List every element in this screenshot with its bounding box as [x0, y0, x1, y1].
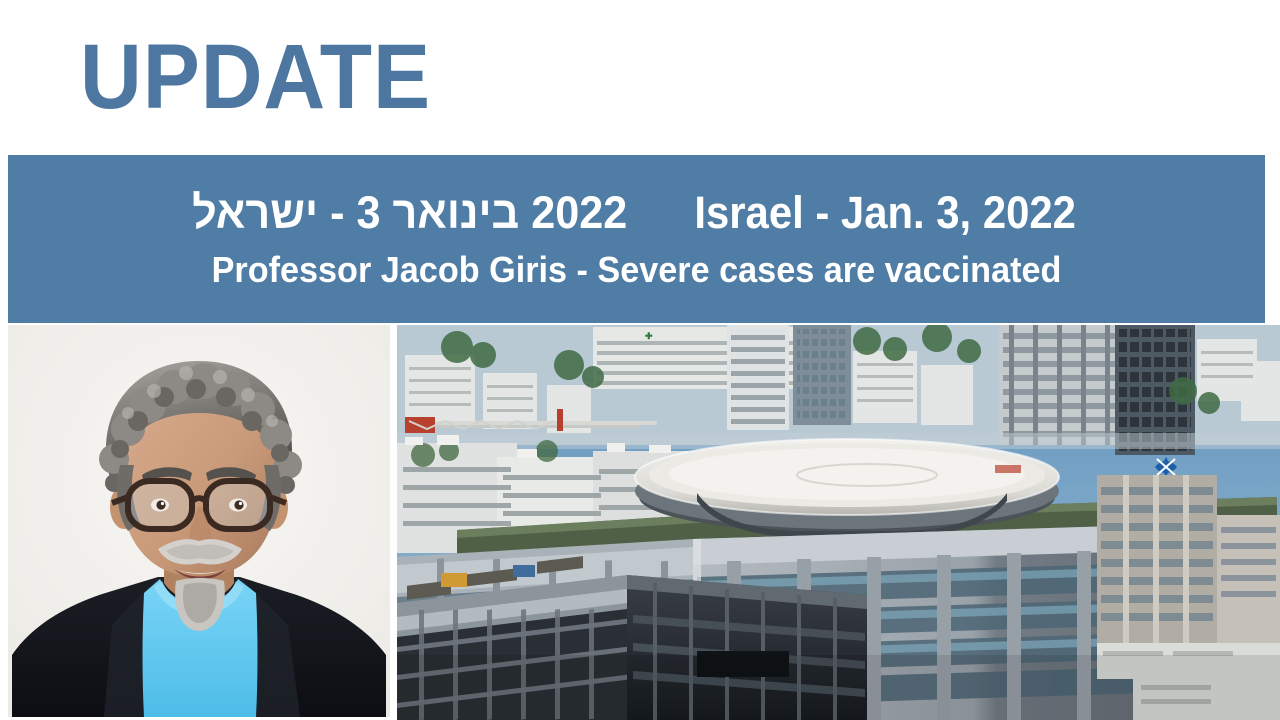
portrait-illustration: [8, 325, 390, 717]
banner-subtitle: Professor Jacob Giris - Severe cases are…: [60, 247, 1212, 293]
page-title: UPDATE: [80, 26, 431, 128]
banner-english-title: Israel - Jan. 3, 2022: [694, 185, 1076, 241]
cityscape-photo: Aerial view of Tel Aviv Sourasky (Ichilo…: [397, 325, 1280, 720]
svg-text:✚: ✚: [645, 331, 653, 341]
banner-hebrew-title: לארשי - 3 ראוניב 2022: [192, 185, 627, 241]
media-row: Professor Jacob Giris portrait - man wit…: [0, 325, 1280, 720]
cityscape-illustration: ✚: [397, 325, 1280, 720]
title-banner: לארשי - 3 ראוניב 2022 Israel - Jan. 3, 2…: [8, 155, 1265, 323]
banner-main-row: לארשי - 3 ראוניב 2022 Israel - Jan. 3, 2…: [30, 185, 1243, 241]
slide-root: UPDATE לארשי - 3 ראוניב 2022 Israel - Ja…: [0, 0, 1280, 720]
portrait-photo: Professor Jacob Giris portrait - man wit…: [8, 325, 390, 717]
